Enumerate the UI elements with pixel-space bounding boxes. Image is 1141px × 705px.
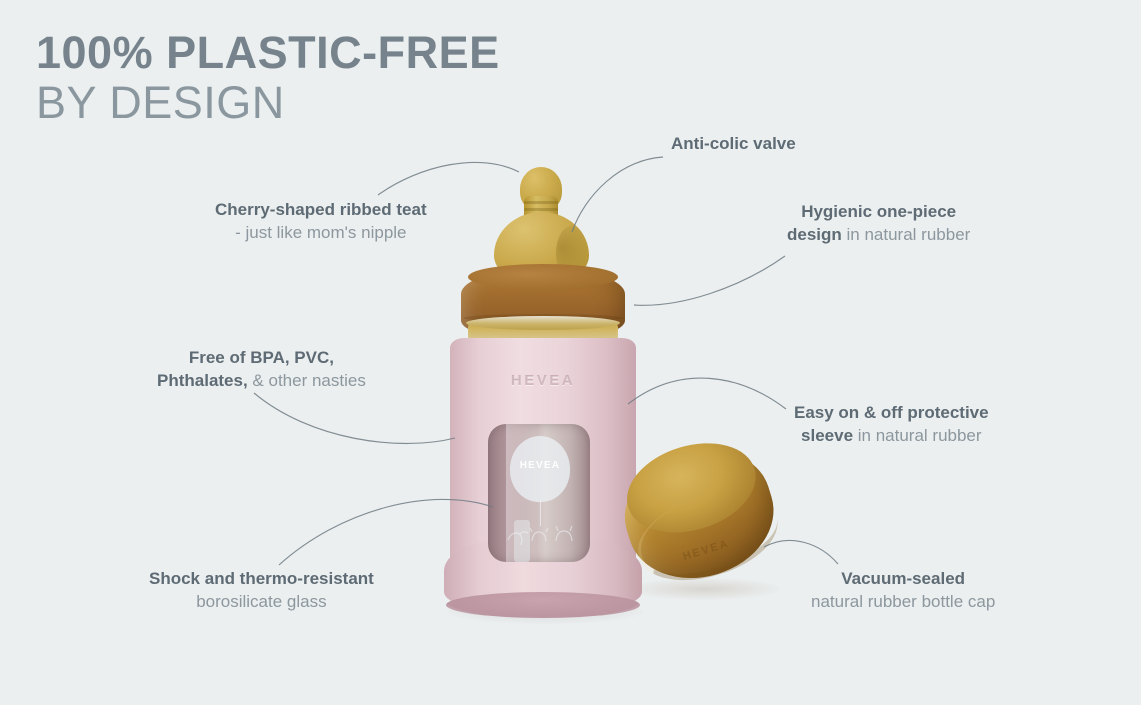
infographic-canvas: 100% PLASTIC-FREE BY DESIGN HEVEA — [0, 0, 1141, 705]
callout-line-1: Shock and thermo-resistant — [149, 567, 374, 590]
callout-shock-and-thermo-resistant: Shock and thermo-resistant borosilicate … — [149, 567, 374, 614]
callout-vacuum-sealed: Vacuum-sealed natural rubber bottle cap — [811, 567, 995, 614]
callout-hygienic-one-piece-design: Hygienic one-piece design in natural rub… — [787, 200, 970, 247]
callout-line-2: sleeve in natural rubber — [794, 424, 989, 447]
glass-bottle-lip — [466, 316, 620, 330]
callout-line-1: Hygienic one-piece — [787, 200, 970, 223]
callout-easy-on-off-protective-sleeve: Easy on & off protective sleeve in natur… — [794, 401, 989, 448]
callout-line-2: - just like mom's nipple — [215, 221, 427, 244]
callout-free-of-bpa-pvc-phthalates: Free of BPA, PVC, Phthalates, & other na… — [157, 346, 366, 393]
callout-line-1: Vacuum-sealed — [811, 567, 995, 590]
sleeve-brand-logo: HEVEA — [489, 372, 597, 389]
callout-line-1: Free of BPA, PVC, — [157, 346, 366, 369]
sleeve-window: HEVEA — [488, 424, 590, 562]
teat-rib — [524, 208, 558, 211]
callout-line-2: natural rubber bottle cap — [811, 590, 995, 613]
sleeve-base-shadow — [446, 592, 640, 618]
callout-line-1: Cherry-shaped ribbed teat — [215, 198, 427, 221]
rubber-collar-top — [468, 264, 618, 290]
callout-line-1: Anti-colic valve — [671, 132, 796, 155]
balloon-brand-logo: HEVEA — [510, 460, 570, 471]
callout-line-2: borosilicate glass — [149, 590, 374, 613]
teat-rib — [524, 201, 558, 204]
callout-anti-colic-valve: Anti-colic valve — [671, 132, 796, 155]
callout-line-2: design in natural rubber — [787, 223, 970, 246]
callout-line-1: Easy on & off protective — [794, 401, 989, 424]
callout-line-2: Phthalates, & other nasties — [157, 369, 366, 392]
callout-cherry-shaped-ribbed-teat: Cherry-shaped ribbed teat - just like mo… — [215, 198, 427, 245]
animal-graphics — [502, 520, 580, 546]
